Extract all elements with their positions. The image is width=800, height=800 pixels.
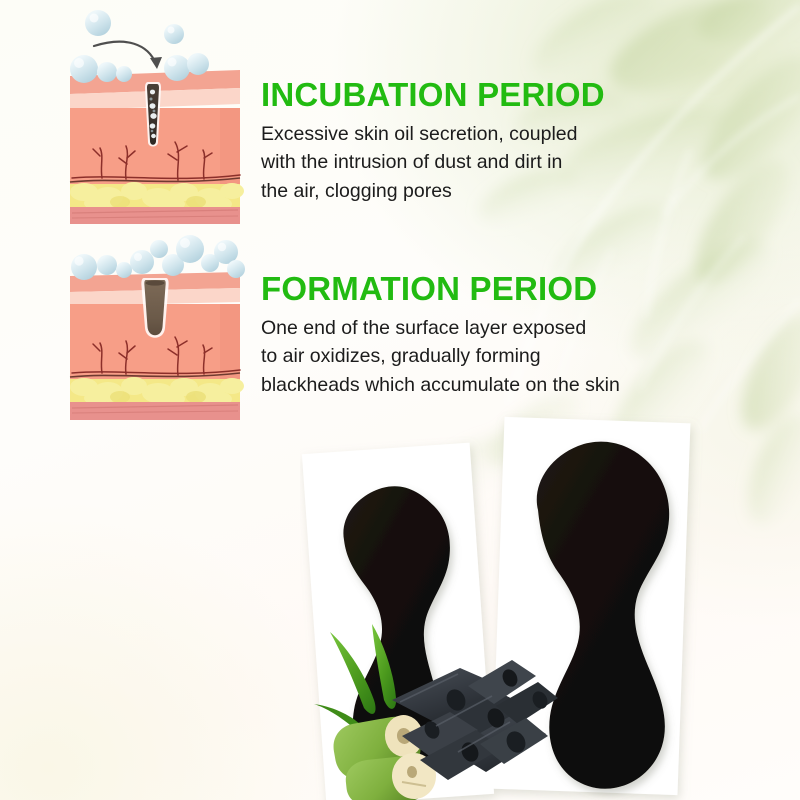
body-line: blackheads which accumulate on the skin [261, 371, 620, 399]
nose-strip-right [537, 442, 669, 789]
strip-backing-papers [302, 417, 691, 800]
nose-strips [343, 442, 669, 789]
body-line: Excessive skin oil secretion, coupled [261, 120, 605, 148]
pore-blackhead [141, 278, 168, 338]
bamboo-charcoal-sticks [392, 660, 558, 780]
section-formation-text: FORMATION PERIOD One end of the surface … [261, 272, 620, 399]
heading-incubation: INCUBATION PERIOD [261, 78, 605, 111]
illustration-formation [60, 232, 250, 430]
body-line: One end of the surface layer exposed [261, 314, 620, 342]
product-photo [300, 400, 800, 800]
body-line: with the intrusion of dust and dirt in [261, 148, 605, 176]
charcoal-hollow-ends [422, 667, 550, 765]
illustration-incubation [60, 6, 250, 232]
product-infographic: INCUBATION PERIOD Excessive skin oil sec… [0, 0, 800, 800]
bamboo-stalks [330, 712, 438, 800]
section-incubation-text: INCUBATION PERIOD Excessive skin oil sec… [261, 78, 605, 205]
nose-strip-left [343, 486, 450, 776]
body-incubation: Excessive skin oil secretion, coupled wi… [261, 111, 605, 205]
bamboo-leaves [314, 624, 396, 735]
body-formation: One end of the surface layer exposed to … [261, 305, 620, 399]
foliage-leaf-cluster-lower [381, 381, 590, 552]
body-line: the air, clogging pores [261, 177, 605, 205]
body-line: to air oxidizes, gradually forming [261, 342, 620, 370]
heading-formation: FORMATION PERIOD [261, 272, 620, 305]
